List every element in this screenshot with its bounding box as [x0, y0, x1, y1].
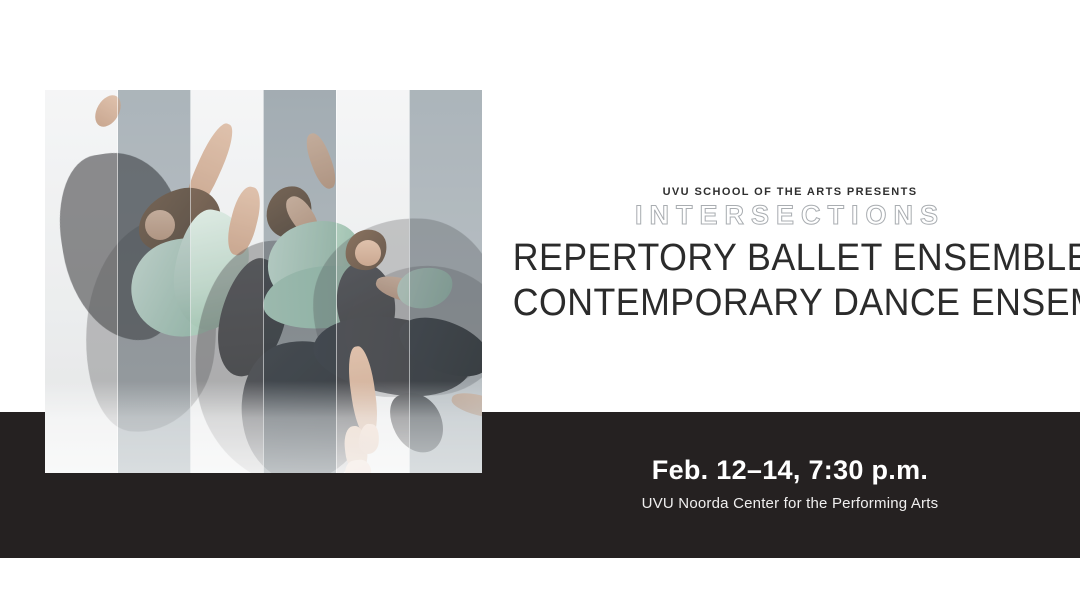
page-title: REPERTORY BALLET ENSEMBLE & CONTEMPORARY… [513, 236, 1068, 326]
limb-arm-raised-right [302, 130, 341, 191]
event-datetime: Feb. 12–14, 7:30 p.m. [500, 455, 1080, 486]
dancer-face-1 [145, 210, 175, 240]
dancer-face-2 [355, 240, 381, 266]
limb-hand-upper [90, 91, 126, 131]
studio-floor-gradient [45, 381, 482, 473]
event-venue: UVU Noorda Center for the Performing Art… [500, 495, 1080, 512]
series-title: INTERSECTIONS [500, 200, 1080, 231]
title-line-1: REPERTORY BALLET ENSEMBLE & [513, 236, 1068, 281]
dancer-artwork [45, 90, 482, 473]
event-poster: UVU SCHOOL OF THE ARTS PRESENTS INTERSEC… [0, 0, 1080, 608]
presenter-line: UVU SCHOOL OF THE ARTS PRESENTS [500, 186, 1080, 198]
title-line-2: CONTEMPORARY DANCE ENSEMBLE [513, 281, 1068, 326]
dancer-photo-collage [45, 90, 482, 473]
footer-bar: SCHOOL OF THE ARTS Powered by A PHYSICAL… [0, 558, 1080, 608]
